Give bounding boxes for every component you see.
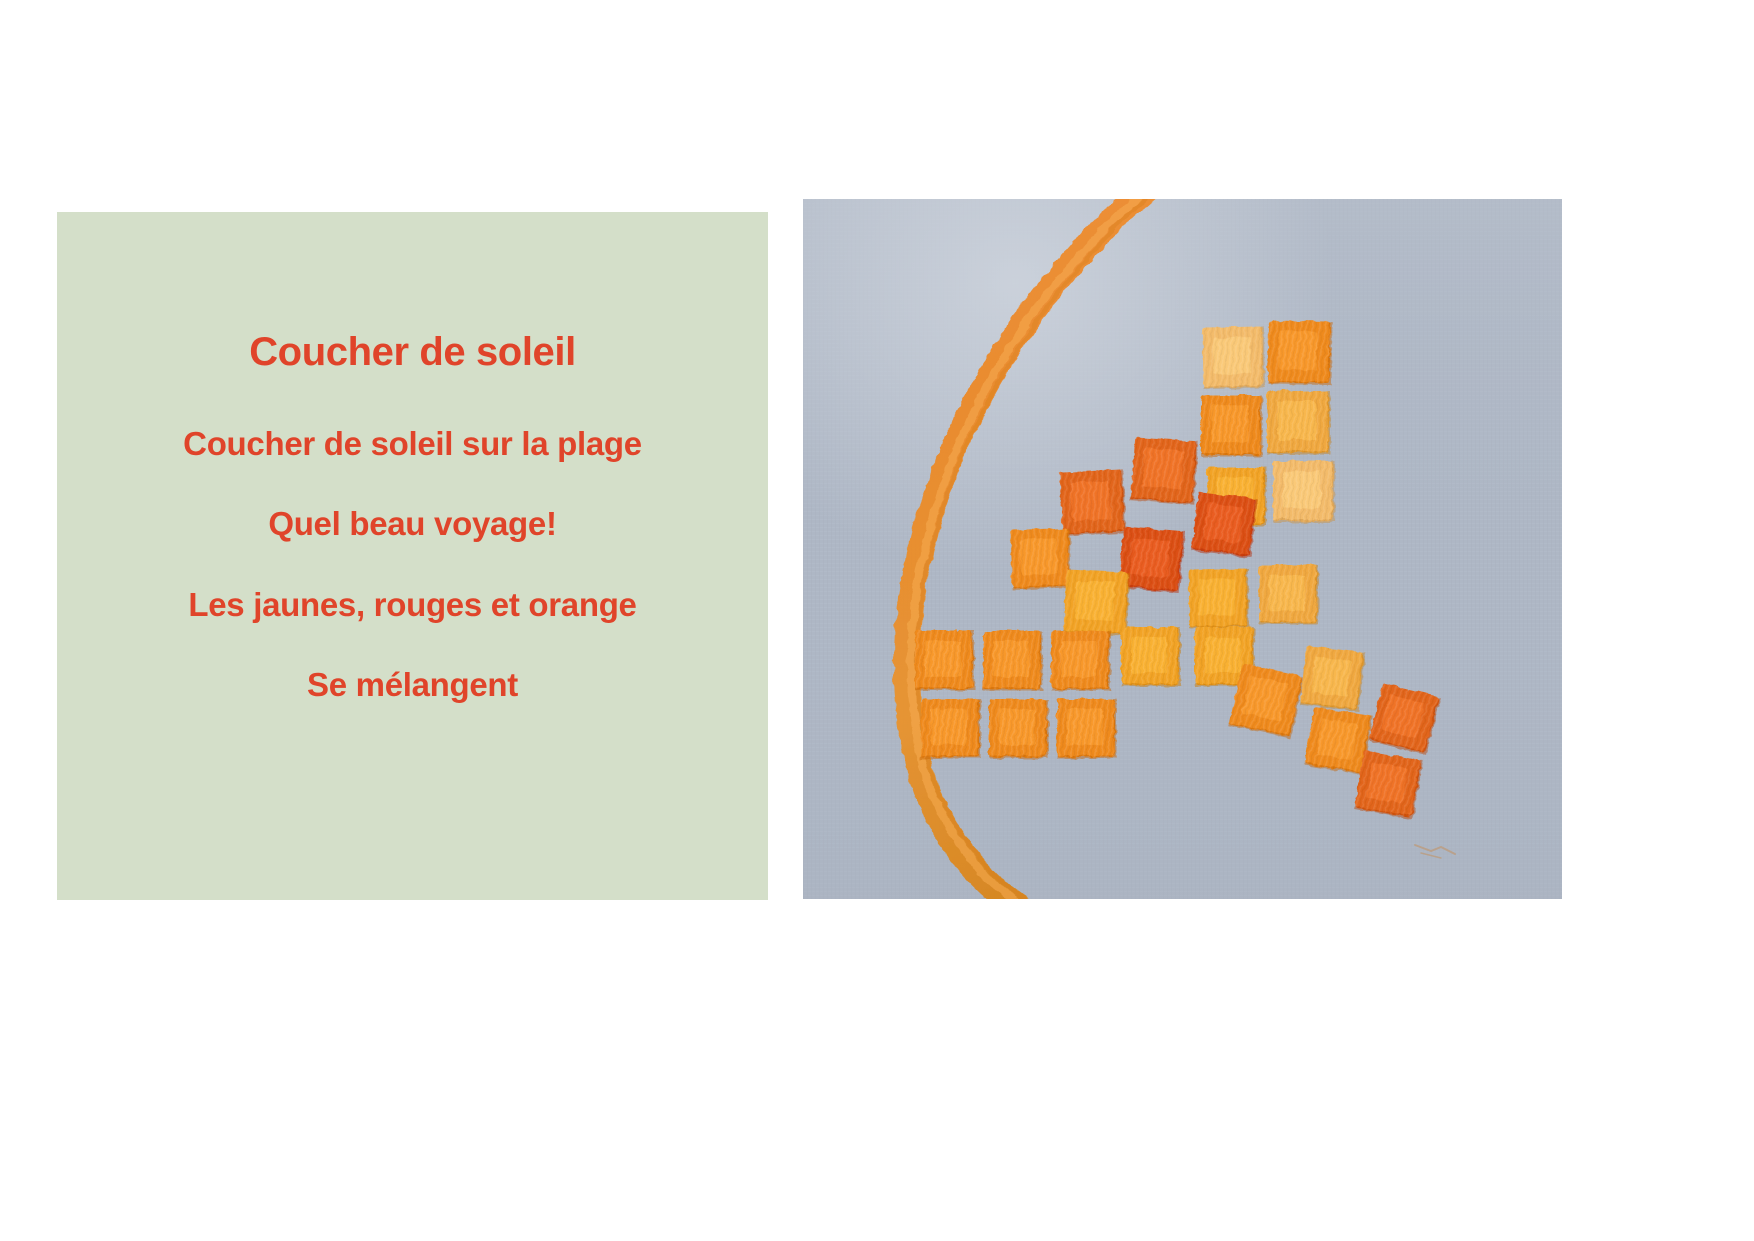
- painted-square: [1057, 699, 1115, 757]
- painted-square: [1300, 646, 1364, 710]
- poem-line-1: Coucher de soleil sur la plage: [183, 426, 642, 462]
- painted-square: [1121, 627, 1179, 685]
- slide-canvas: Coucher de soleil Coucher de soleil sur …: [0, 0, 1754, 1241]
- poem-line-4: Se mélangent: [307, 667, 518, 703]
- painted-square: [1201, 395, 1261, 455]
- poem-line-2: Quel beau voyage!: [268, 506, 556, 542]
- painting-image: Peinture abstraite : carrés orange sur f…: [803, 199, 1562, 899]
- painted-square: [1188, 568, 1247, 627]
- painted-square: [1059, 469, 1124, 534]
- painted-square: [1131, 437, 1197, 503]
- poem-line-3: Les jaunes, rouges et orange: [188, 587, 636, 623]
- painted-square: [1273, 461, 1333, 521]
- painting-svg: [803, 199, 1562, 899]
- painted-square: [915, 631, 973, 689]
- painted-square: [921, 699, 979, 757]
- poem-panel: Coucher de soleil Coucher de soleil sur …: [57, 212, 768, 900]
- painted-square: [1305, 707, 1371, 773]
- painted-square: [1010, 528, 1070, 588]
- painted-square: [989, 699, 1047, 757]
- painted-square: [1354, 750, 1421, 817]
- painted-square: [1267, 320, 1330, 383]
- painted-square: [1192, 492, 1257, 557]
- painted-square: [1259, 565, 1317, 623]
- painted-square: [1051, 631, 1109, 689]
- page-title: Coucher de soleil: [249, 330, 576, 374]
- painted-square: [1063, 569, 1128, 634]
- painted-square: [1229, 663, 1303, 737]
- painted-square: [1267, 391, 1329, 453]
- painted-square: [1202, 326, 1263, 387]
- painted-square: [983, 631, 1041, 689]
